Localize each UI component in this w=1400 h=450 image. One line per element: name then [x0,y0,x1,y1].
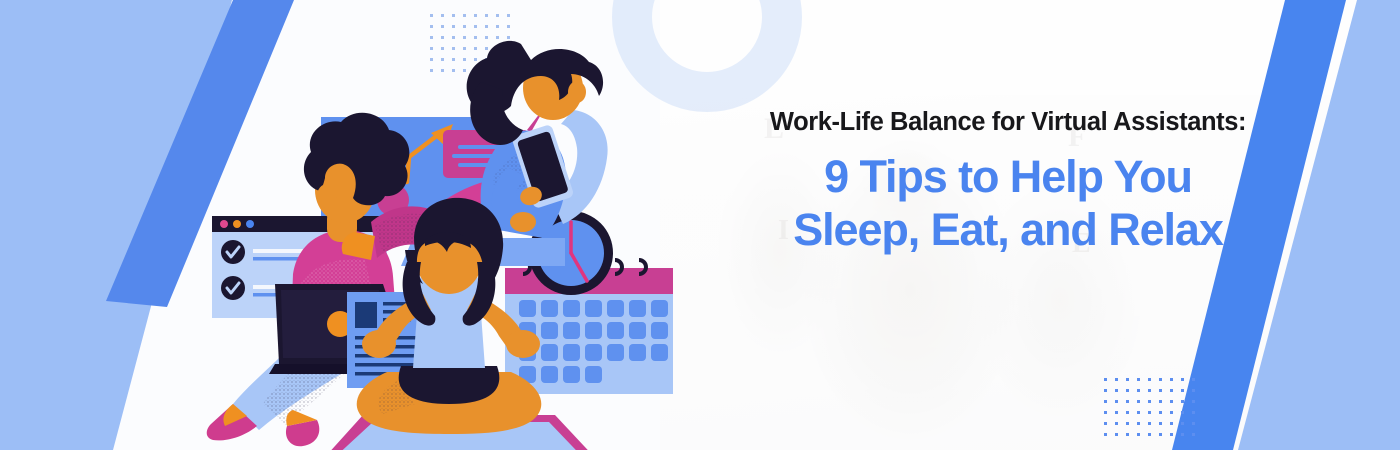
ear [568,81,586,103]
headline-block: Work-Life Balance for Virtual Assistants… [672,108,1344,256]
window-dot-blue [246,220,254,228]
headline-line-2: Sleep, Eat, and Relax [672,203,1344,256]
window-dot-pink [220,220,228,228]
hand [510,212,536,232]
work-life-balance-illustration [175,0,675,450]
headline-line-1: 9 Tips to Help You [672,150,1344,203]
hand-right [506,330,540,358]
shorts [399,366,500,404]
kicker-text: Work-Life Balance for Virtual Assistants… [672,108,1344,136]
shoe-right [286,410,319,446]
hand-left [362,330,396,358]
blog-header-banner: L I F E [0,0,1400,450]
window-dot-orange [233,220,241,228]
